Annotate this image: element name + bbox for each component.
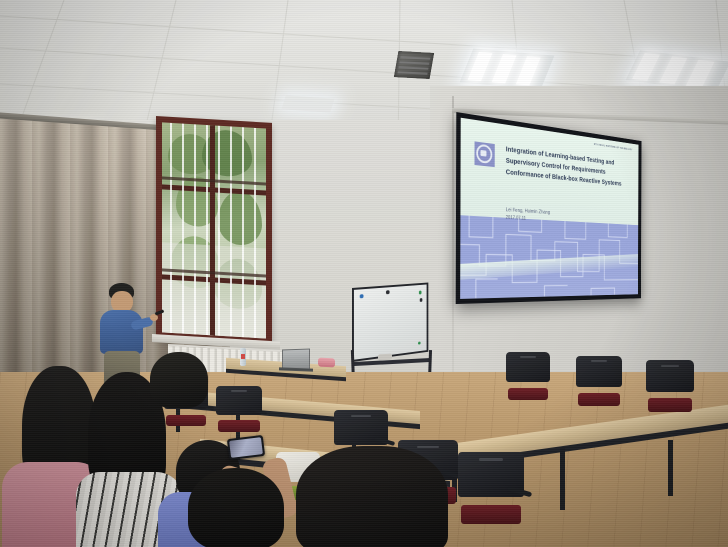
phone-screen [229,437,263,458]
smartphone[interactable] [227,435,265,460]
projected-slide: KTH ROYAL INSTITUTE OF TECHNOLOGY Integr… [460,118,638,299]
pink-pencil-case[interactable] [318,358,335,368]
audience-member-front-right [296,446,456,547]
lecture-chair[interactable] [646,360,694,412]
window[interactable] [156,116,272,345]
lecture-chair[interactable] [576,356,622,406]
projection-screen[interactable]: KTH ROYAL INSTITUTE OF TECHNOLOGY Integr… [456,112,642,304]
screen-frame: KTH ROYAL INSTITUTE OF TECHNOLOGY Integr… [456,112,642,304]
laptop[interactable] [282,349,310,371]
desk-leg [668,440,673,496]
window-security-bars [162,122,266,338]
ceiling-vent-icon [394,51,434,79]
presenter-shirt [100,310,143,354]
water-bottle[interactable] [240,348,246,366]
window-glass [162,122,266,338]
lecture-chair[interactable] [506,352,550,400]
slide-lower-pattern-area [460,216,638,299]
presentation-room-photo: KTH ROYAL INSTITUTE OF TECHNOLOGY Integr… [0,0,728,547]
kth-logo-icon [474,141,494,167]
desk-leg [560,448,565,510]
lecture-chair[interactable] [458,452,524,524]
ceiling-light-fixture [460,48,555,89]
